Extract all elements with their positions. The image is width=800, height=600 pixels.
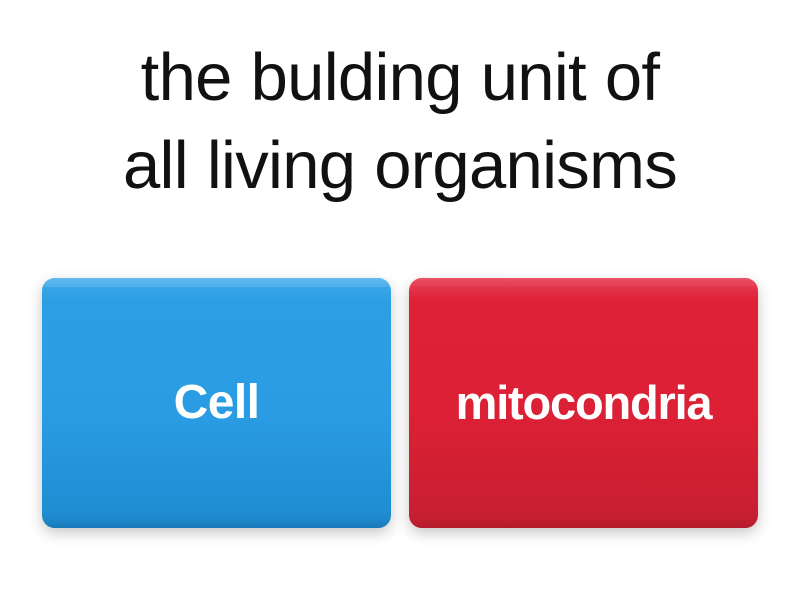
answer-options-row: Cell mitocondria [0,278,800,540]
answer-option-label: mitocondria [409,377,758,429]
answer-option-label: Cell [42,377,391,430]
quiz-question-screen: the bulding unit of all living organisms… [0,0,800,600]
answer-option-mitocondria[interactable]: mitocondria [409,278,758,528]
answer-option-cell[interactable]: Cell [42,278,391,528]
question-prompt: the bulding unit of all living organisms [0,34,800,211]
question-text: the bulding unit of all living organisms [26,34,774,211]
